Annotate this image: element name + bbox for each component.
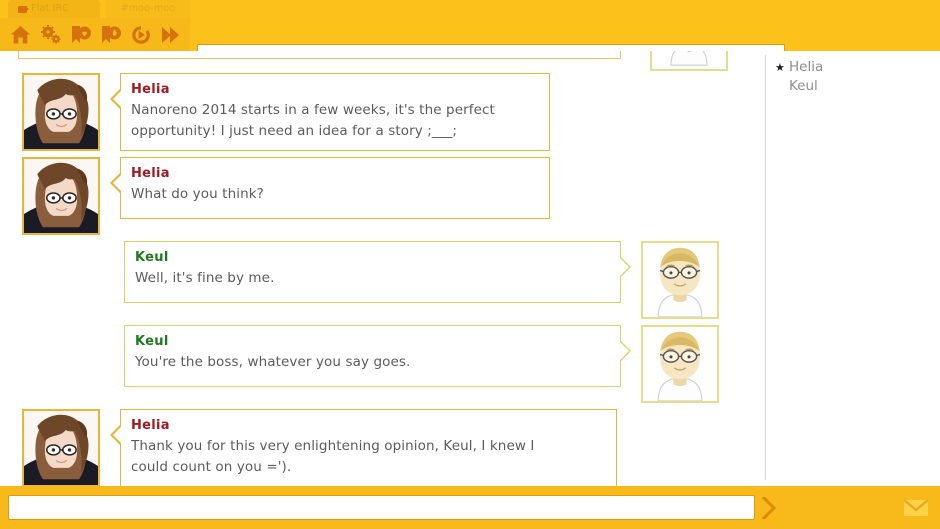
message-row: Keul Well, it's fine by me. (0, 241, 765, 319)
gears-icon[interactable] (36, 20, 65, 49)
message-row: Helia Thank you for this very enlighteni… (0, 409, 765, 486)
send-button[interactable] (758, 496, 780, 520)
play-circle-icon[interactable] (126, 20, 155, 49)
avatar[interactable] (22, 409, 100, 486)
message-bubble: Keul You're the boss, whatever you say g… (124, 325, 621, 387)
avatar[interactable] (641, 325, 719, 403)
user-list-item-helia[interactable]: ★ Helia (775, 58, 940, 77)
user-list-item-keul[interactable]: Keul (775, 77, 940, 96)
message-input-wrapper (8, 495, 755, 520)
message-speaker: Keul (135, 249, 610, 266)
chat-scroll-area[interactable]: Helia Nanoreno 2014 starts in a few week… (0, 51, 765, 486)
message-speaker: Helia (131, 81, 539, 98)
screen-icon (18, 6, 27, 13)
user-list-item-label: Keul (789, 77, 818, 96)
message-input[interactable] (9, 496, 754, 519)
bookmark-drop-icon[interactable] (96, 20, 125, 49)
partial-bubble-above (18, 51, 621, 59)
tab-flat-irc[interactable]: Flat IRC (8, 0, 100, 18)
message-bubble: Helia What do you think? (120, 157, 550, 219)
message-row: Helia What do you think? (0, 157, 765, 235)
tab-strip: Flat IRC #moo-moo (0, 0, 940, 18)
tab-moo-moo-label: #moo-moo (121, 4, 176, 14)
avatar[interactable] (641, 241, 719, 319)
user-list-item-label: Helia (789, 58, 823, 77)
message-speaker: Helia (131, 165, 539, 182)
message-bubble: Helia Nanoreno 2014 starts in a few week… (120, 73, 550, 151)
tab-flat-irc-label: Flat IRC (31, 4, 69, 14)
flat-irc-window: Flat IRC #moo-moo (0, 0, 940, 529)
message-text: Thank you for this very enlightening opi… (131, 436, 606, 478)
toolbar (0, 18, 940, 51)
message-text: Nanoreno 2014 starts in a few weeks, it'… (131, 100, 539, 142)
main-body: Helia Nanoreno 2014 starts in a few week… (0, 51, 940, 486)
message-text: Well, it's fine by me. (135, 268, 610, 289)
message-bubble: Helia Thank you for this very enlighteni… (120, 409, 617, 486)
message-row: Keul You're the boss, whatever you say g… (0, 325, 765, 403)
tab-moo-moo[interactable]: #moo-moo (106, 0, 190, 18)
fast-forward-icon[interactable] (156, 20, 185, 49)
composer-bar (0, 486, 940, 529)
home-icon[interactable] (6, 20, 35, 49)
star-icon: ★ (775, 63, 785, 73)
message-row: Helia Nanoreno 2014 starts in a few week… (0, 73, 765, 151)
toolbar-icon-group (0, 18, 190, 51)
message-text: You're the boss, whatever you say goes. (135, 352, 610, 373)
envelope-icon[interactable] (903, 498, 929, 518)
message-speaker: Helia (131, 417, 606, 434)
message-text: What do you think? (131, 184, 539, 205)
message-bubble: Keul Well, it's fine by me. (124, 241, 621, 303)
avatar[interactable] (22, 157, 100, 235)
avatar[interactable] (22, 73, 100, 151)
partial-avatar-keul (650, 51, 728, 71)
user-list: ★ Helia Keul (766, 51, 940, 486)
bookmark-heart-icon[interactable] (66, 20, 95, 49)
message-speaker: Keul (135, 333, 610, 350)
